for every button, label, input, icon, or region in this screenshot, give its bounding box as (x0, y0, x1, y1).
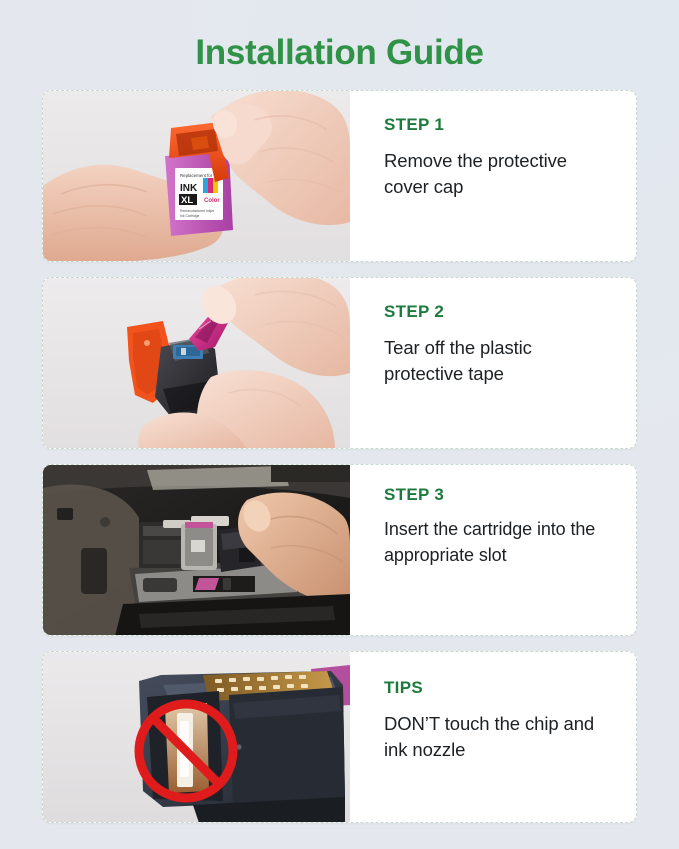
tips-text: DON’T touch the chip and ink nozzle (384, 711, 616, 764)
step-1-label: STEP 1 (384, 115, 616, 135)
page-title: Installation Guide (0, 0, 679, 73)
svg-text:Ink Cartridge: Ink Cartridge (180, 214, 200, 218)
step-1-image: Replacement for INK XL Color Remanufactu… (43, 91, 350, 261)
step-3-text: Insert the cartridge into the appropriat… (384, 517, 616, 568)
step-card-2: STEP 2 Tear off the plastic protective t… (42, 277, 637, 449)
tips-label: TIPS (384, 678, 616, 698)
step-1-body: STEP 1 Remove the protective cover cap (350, 91, 636, 261)
step-3-label: STEP 3 (384, 485, 616, 505)
svg-text:INK: INK (180, 183, 198, 194)
step-card-3: STEP 3 Insert the cartridge into the app… (42, 464, 637, 636)
cartridge-carriage-shape (139, 516, 229, 570)
step-2-image (43, 278, 350, 448)
step-2-label: STEP 2 (384, 302, 616, 322)
tips-image (43, 652, 350, 822)
step-2-body: STEP 2 Tear off the plastic protective t… (350, 278, 636, 448)
svg-text:XL: XL (181, 195, 193, 206)
step-3-image (43, 465, 350, 635)
tips-card: TIPS DON’T touch the chip and ink nozzle (42, 651, 637, 823)
step-3-body: STEP 3 Insert the cartridge into the app… (350, 465, 636, 635)
svg-text:Color: Color (204, 198, 220, 204)
svg-text:Remanufactured Inkjet: Remanufactured Inkjet (180, 209, 214, 213)
step-card-1: Replacement for INK XL Color Remanufactu… (42, 90, 637, 262)
step-2-text: Tear off the plastic protective tape (384, 335, 616, 388)
tips-body: TIPS DON’T touch the chip and ink nozzle (350, 652, 636, 822)
steps-list: Replacement for INK XL Color Remanufactu… (0, 90, 679, 823)
svg-text:Replacement for: Replacement for (180, 173, 213, 178)
installation-guide-page: Installation Guide (0, 0, 679, 849)
step-1-text: Remove the protective cover cap (384, 148, 616, 201)
